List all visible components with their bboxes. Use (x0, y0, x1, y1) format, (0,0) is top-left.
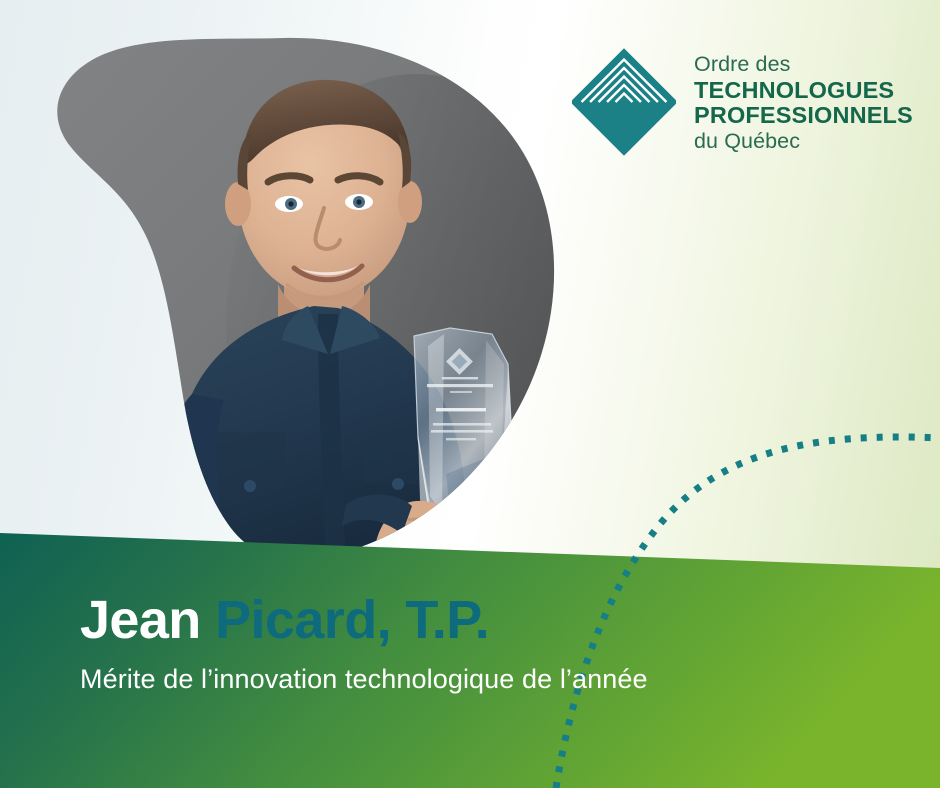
caption-block: Jean Picard, T.P. Mérite de l’innovation… (80, 592, 900, 695)
logo-wordmark: Ordre des TECHNOLOGUES PROFESSIONNELS du… (694, 52, 913, 152)
logo-line-technologues: TECHNOLOGUES (694, 79, 913, 103)
logo-line-professionnels: PROFESSIONNELS (694, 104, 913, 128)
honoree-name: Jean Picard, T.P. (80, 592, 900, 649)
award-title: Mérite de l’innovation technologique de … (80, 663, 900, 695)
honoree-last-name: Picard, T.P. (215, 590, 489, 650)
logo-line-du-quebec: du Québec (694, 131, 913, 153)
otpq-logo: Ordre des TECHNOLOGUES PROFESSIONNELS du… (572, 44, 913, 160)
otpq-nested-diamond-logo-icon (572, 44, 676, 160)
award-announcement-card: Ordre des TECHNOLOGUES PROFESSIONNELS du… (0, 0, 940, 788)
honoree-first-name: Jean (80, 590, 201, 650)
honoree-photo (46, 34, 560, 562)
logo-line-ordre-des: Ordre des (694, 54, 913, 76)
